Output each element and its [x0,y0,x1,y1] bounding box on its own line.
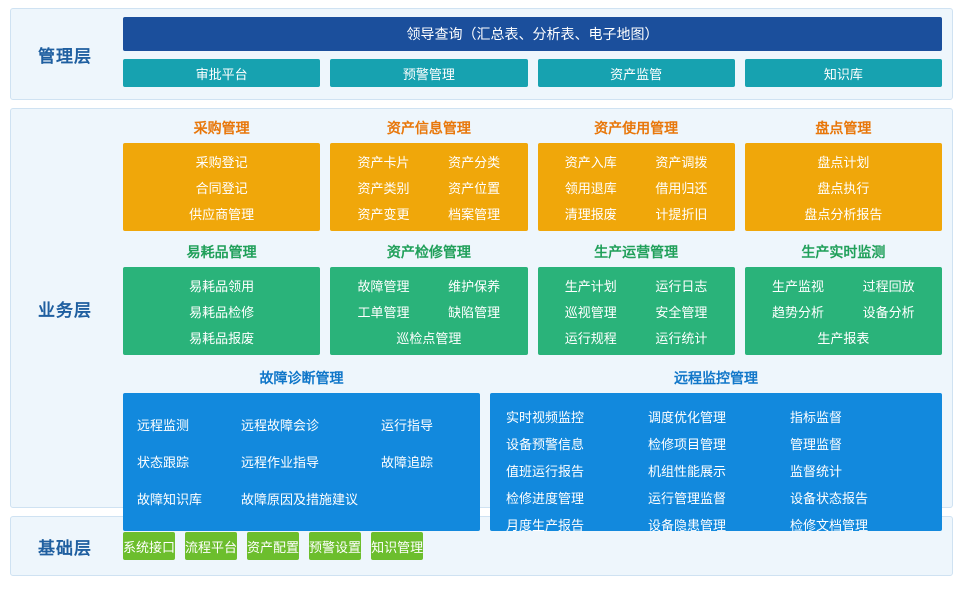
group-box-procurement[interactable]: 采购登记 合同登记 供应商管理 [123,143,320,231]
group-production-operation: 生产运营管理 生产计划 运行日志 巡视管理 安全管理 [538,239,735,355]
item-operation-management-supervision[interactable]: 运行管理监督 [648,488,784,507]
group-title-fault-diagnosis: 故障诊断管理 [123,365,480,393]
group-title-remote-monitoring: 远程监控管理 [490,365,942,393]
item-inventory-plan[interactable]: 盘点计划 [815,152,871,171]
item-process-playback[interactable]: 过程回放 [861,276,917,295]
base-item-row: 系统接口 流程平台 资产配置 预警设置 知识管理 [123,517,423,575]
item-equipment-status-report[interactable]: 设备状态报告 [790,488,926,507]
item-procurement-registration[interactable]: 采购登记 [194,152,250,171]
item-maintenance-project-management[interactable]: 检修项目管理 [648,434,784,453]
group-box-production-operation[interactable]: 生产计划 运行日志 巡视管理 安全管理 运行规程 运行统计 [538,267,735,355]
item-operation-guidance[interactable]: 运行指导 [381,415,466,434]
item-depreciation[interactable]: 计提折旧 [653,204,709,223]
item-asset-classification[interactable]: 资产分类 [446,152,502,171]
item-fault-tracing[interactable]: 故障追踪 [381,452,466,471]
item-asset-card[interactable]: 资产卡片 [356,152,412,171]
item-supplier-management[interactable]: 供应商管理 [187,204,256,223]
item-operation-statistics[interactable]: 运行统计 [653,328,709,347]
item-fault-management[interactable]: 故障管理 [356,276,412,295]
base-item-system-interface[interactable]: 系统接口 [123,532,175,560]
item-remote-operation-guidance[interactable]: 远程作业指导 [241,452,381,471]
group-consumables: 易耗品管理 易耗品领用 易耗品检修 易耗品报废 [123,239,320,355]
group-box-consumables[interactable]: 易耗品领用 易耗品检修 易耗品报废 [123,267,320,355]
item-consumable-scrap[interactable]: 易耗品报废 [187,328,256,347]
item-contract-registration[interactable]: 合同登记 [194,178,250,197]
item-work-order-management[interactable]: 工单管理 [356,302,412,321]
item-status-tracking[interactable]: 状态跟踪 [137,452,241,471]
item-asset-change[interactable]: 资产变更 [356,204,412,223]
item-supervision-statistics[interactable]: 监督统计 [790,461,926,480]
business-layer-label: 业务层 [11,109,119,507]
group-title-consumables: 易耗品管理 [123,239,320,267]
group-production-monitoring: 生产实时监测 生产监视 过程回放 趋势分析 设备分析 [745,239,942,355]
group-title-asset-maintenance: 资产检修管理 [330,239,527,267]
group-box-remote-monitoring[interactable]: 实时视频监控 调度优化管理 指标监督 设备预警信息 检修项目管理 管理监督 值班… [490,393,942,531]
management-item-asset-supervision[interactable]: 资产监管 [538,59,735,87]
base-layer-body: 系统接口 流程平台 资产配置 预警设置 知识管理 [119,517,952,575]
group-fault-diagnosis: 故障诊断管理 远程监测 远程故障会诊 运行指导 状态跟踪 远程作业指导 [123,365,480,531]
item-equipment-warning-info[interactable]: 设备预警信息 [506,434,642,453]
item-production-surveillance[interactable]: 生产监视 [770,276,826,295]
group-title-inventory: 盘点管理 [745,115,942,143]
item-disposal-scrap[interactable]: 清理报废 [563,204,619,223]
group-procurement: 采购管理 采购登记 合同登记 供应商管理 [123,115,320,231]
group-inventory: 盘点管理 盘点计划 盘点执行 盘点分析报告 [745,115,942,231]
management-item-row: 审批平台 预警管理 资产监管 知识库 [123,59,942,87]
item-inventory-analysis-report[interactable]: 盘点分析报告 [802,204,884,223]
item-fault-cause-and-measures[interactable]: 故障原因及措施建议 [241,489,358,508]
item-management-supervision[interactable]: 管理监督 [790,434,926,453]
management-item-knowledge-base[interactable]: 知识库 [745,59,942,87]
item-inspection-point-management[interactable]: 巡检点管理 [394,328,463,347]
business-layer-band: 业务层 采购管理 采购登记 合同登记 供应商管理 资产信息管理 [10,108,953,508]
item-production-plan[interactable]: 生产计划 [563,276,619,295]
group-title-asset-usage: 资产使用管理 [538,115,735,143]
group-title-procurement: 采购管理 [123,115,320,143]
item-duty-operation-report[interactable]: 值班运行报告 [506,461,642,480]
item-unit-performance-display[interactable]: 机组性能展示 [648,461,784,480]
management-layer-body: 领导查询（汇总表、分析表、电子地图） 审批平台 预警管理 资产监管 知识库 [119,9,952,99]
item-borrow-return[interactable]: 借用归还 [653,178,709,197]
group-asset-usage: 资产使用管理 资产入库 资产调拨 领用退库 借用归还 [538,115,735,231]
item-equipment-analysis[interactable]: 设备分析 [861,302,917,321]
item-production-report[interactable]: 生产报表 [815,328,871,347]
item-asset-transfer[interactable]: 资产调拨 [653,152,709,171]
group-asset-info: 资产信息管理 资产卡片 资产分类 资产类别 资产位置 [330,115,527,231]
group-asset-maintenance: 资产检修管理 故障管理 维护保养 工单管理 缺陷管理 [330,239,527,355]
item-consumable-requisition[interactable]: 易耗品领用 [187,276,256,295]
business-row-orange: 采购管理 采购登记 合同登记 供应商管理 资产信息管理 [123,115,942,231]
item-requisition-return[interactable]: 领用退库 [563,178,619,197]
item-asset-inbound[interactable]: 资产入库 [563,152,619,171]
item-maintenance-upkeep[interactable]: 维护保养 [446,276,502,295]
business-row-green: 易耗品管理 易耗品领用 易耗品检修 易耗品报废 资产检修管理 [123,239,942,355]
management-item-warning[interactable]: 预警管理 [330,59,527,87]
item-inventory-execution[interactable]: 盘点执行 [815,178,871,197]
item-patrol-management[interactable]: 巡视管理 [563,302,619,321]
item-indicator-supervision[interactable]: 指标监督 [790,407,926,426]
management-layer-band: 管理层 领导查询（汇总表、分析表、电子地图） 审批平台 预警管理 资产监管 知识… [10,8,953,100]
item-fault-knowledge-base[interactable]: 故障知识库 [137,489,241,508]
business-layer-body: 采购管理 采购登记 合同登记 供应商管理 资产信息管理 [119,109,952,507]
group-box-asset-info[interactable]: 资产卡片 资产分类 资产类别 资产位置 资产变更 档案管理 [330,143,527,231]
group-box-fault-diagnosis[interactable]: 远程监测 远程故障会诊 运行指导 状态跟踪 远程作业指导 故障追踪 故障知识库 [123,393,480,531]
item-archive-management[interactable]: 档案管理 [446,204,502,223]
management-item-approval[interactable]: 审批平台 [123,59,320,87]
leadership-query-banner[interactable]: 领导查询（汇总表、分析表、电子地图） [123,17,942,51]
item-remote-fault-consultation[interactable]: 远程故障会诊 [241,415,381,434]
group-remote-monitoring: 远程监控管理 实时视频监控 调度优化管理 指标监督 设备预警信息 检修项目管理 … [490,365,942,531]
group-box-inventory[interactable]: 盘点计划 盘点执行 盘点分析报告 [745,143,942,231]
base-item-warning-settings[interactable]: 预警设置 [309,532,361,560]
item-operation-log[interactable]: 运行日志 [653,276,709,295]
group-title-production-operation: 生产运营管理 [538,239,735,267]
item-safety-management[interactable]: 安全管理 [653,302,709,321]
base-layer-band: 基础层 系统接口 流程平台 资产配置 预警设置 知识管理 [10,516,953,576]
business-row-blue: 故障诊断管理 远程监测 远程故障会诊 运行指导 状态跟踪 远程作业指导 [123,365,942,531]
base-item-asset-config[interactable]: 资产配置 [247,532,299,560]
item-consumable-repair[interactable]: 易耗品检修 [187,302,256,321]
architecture-diagram: 管理层 领导查询（汇总表、分析表、电子地图） 审批平台 预警管理 资产监管 知识… [0,0,963,597]
group-title-production-monitoring: 生产实时监测 [745,239,942,267]
item-defect-management[interactable]: 缺陷管理 [446,302,502,321]
group-box-asset-usage[interactable]: 资产入库 资产调拨 领用退库 借用归还 清理报废 计提折旧 [538,143,735,231]
base-item-knowledge-management[interactable]: 知识管理 [371,532,423,560]
group-box-asset-maintenance[interactable]: 故障管理 维护保养 工单管理 缺陷管理 巡检点管理 [330,267,527,355]
item-operation-procedure[interactable]: 运行规程 [563,328,619,347]
item-trend-analysis[interactable]: 趋势分析 [770,302,826,321]
group-title-asset-info: 资产信息管理 [330,115,527,143]
management-layer-label: 管理层 [11,9,119,99]
item-maintenance-progress-management[interactable]: 检修进度管理 [506,488,642,507]
base-item-process-platform[interactable]: 流程平台 [185,532,237,560]
base-layer-label: 基础层 [11,517,119,575]
item-remote-monitoring[interactable]: 远程监测 [137,415,241,434]
item-dispatch-optimization[interactable]: 调度优化管理 [648,407,784,426]
group-box-production-monitoring[interactable]: 生产监视 过程回放 趋势分析 设备分析 生产报表 [745,267,942,355]
item-asset-category[interactable]: 资产类别 [356,178,412,197]
item-asset-location[interactable]: 资产位置 [446,178,502,197]
item-realtime-video-monitoring[interactable]: 实时视频监控 [506,407,642,426]
